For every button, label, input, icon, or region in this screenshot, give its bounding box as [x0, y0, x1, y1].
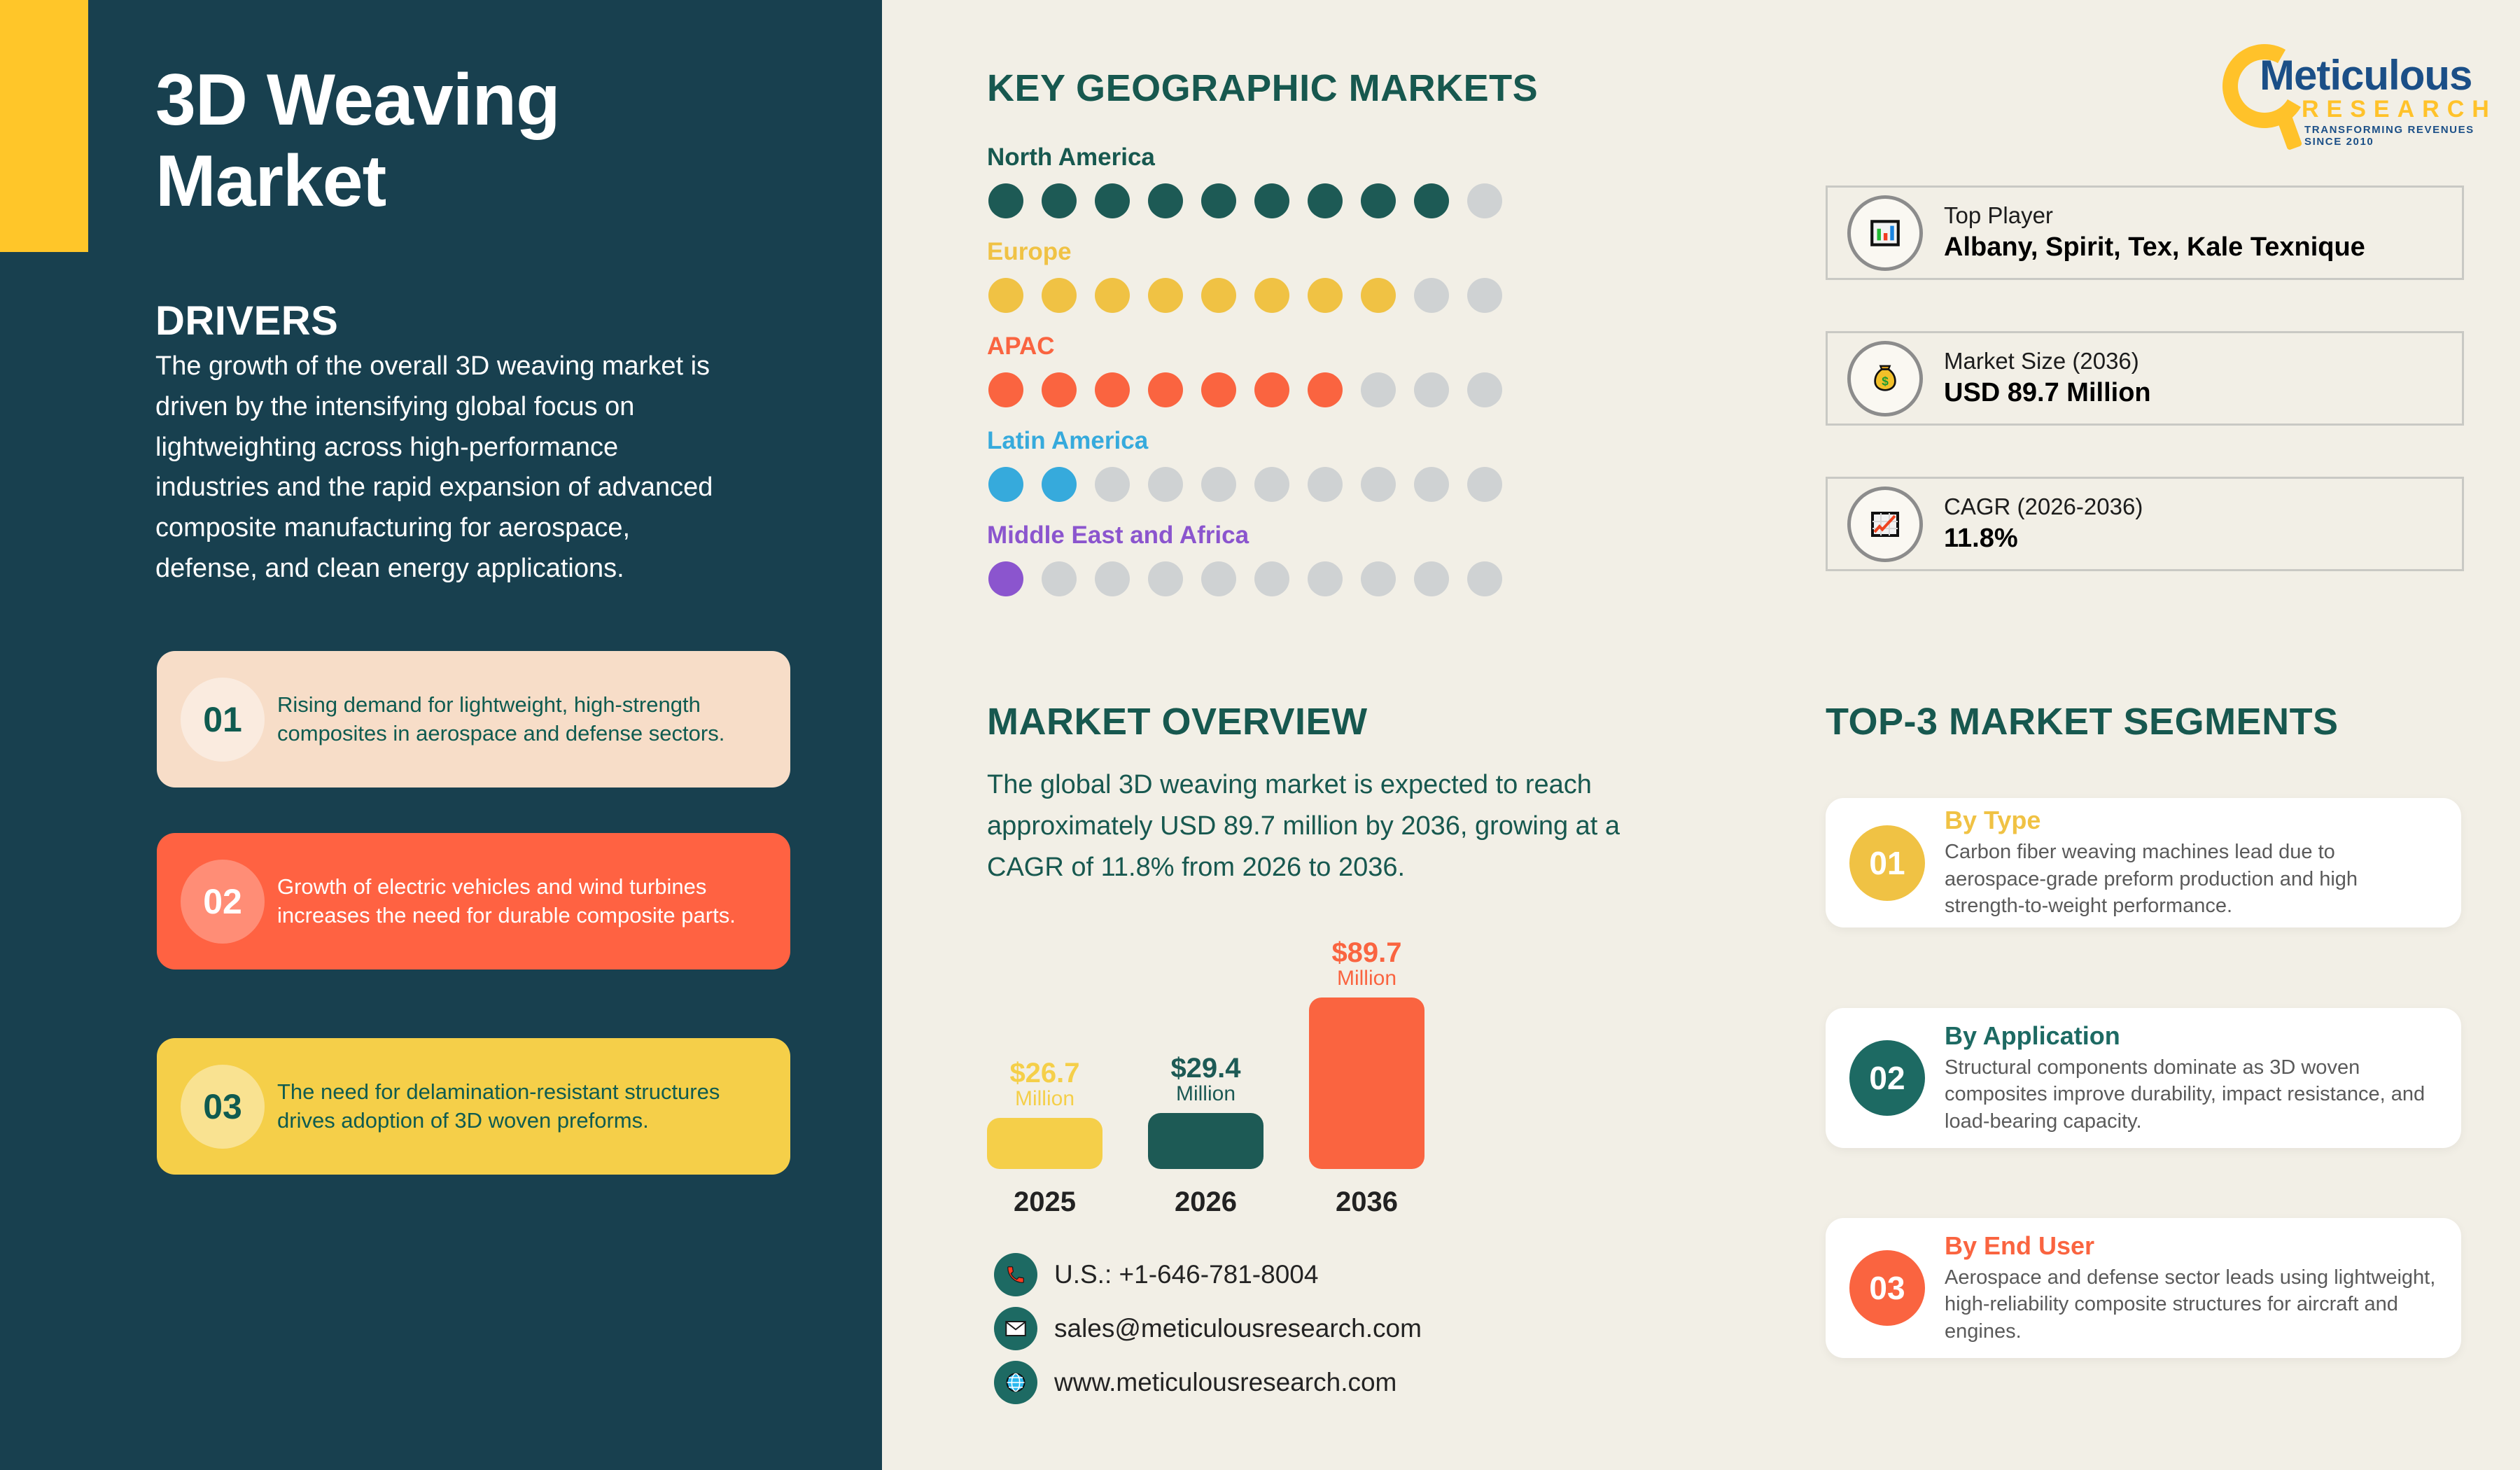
geo-dots-europe: [988, 278, 1502, 313]
geo-dot-filled: [1042, 183, 1077, 218]
segment-card-by-type[interactable]: 01 By Type Carbon fiber weaving machines…: [1826, 798, 2461, 927]
geo-dot-filled: [1042, 372, 1077, 407]
phone-icon: [994, 1253, 1037, 1296]
segment-number-badge: 01: [1849, 825, 1925, 901]
stat-card-cagr: CAGR (2026-2036) 11.8%: [1826, 477, 2464, 571]
geo-dot-filled: [1414, 183, 1449, 218]
driver-text: The need for delamination-resistant stru…: [277, 1078, 766, 1135]
driver-number-badge: 02: [181, 860, 265, 944]
contact-email-text: sales@meticulousresearch.com: [1054, 1314, 1422, 1343]
market-segments-heading: TOP-3 MARKET SEGMENTS: [1826, 700, 2339, 743]
geo-dot-filled: [1148, 278, 1183, 313]
geo-dot-filled: [1254, 183, 1289, 218]
bar-unit-label: Million: [1176, 1082, 1235, 1107]
geo-dot-empty: [1467, 561, 1502, 596]
stat-card-market-size: $ Market Size (2036) USD 89.7 Million: [1826, 331, 2464, 426]
geo-dot-filled: [1201, 183, 1236, 218]
geo-dot-empty: [1361, 467, 1396, 502]
segment-card-by-end-user[interactable]: 03 By End User Aerospace and defense sec…: [1826, 1218, 2461, 1358]
svg-text:$: $: [1882, 374, 1889, 388]
geo-dot-filled: [1361, 278, 1396, 313]
contact-phone-text: U.S.: +1-646-781-8004: [1054, 1260, 1318, 1289]
geo-dot-empty: [1148, 467, 1183, 502]
driver-card-03[interactable]: 03 The need for delamination-resistant s…: [157, 1038, 790, 1175]
money-bag-icon: $: [1847, 341, 1923, 416]
bar-unit-label: Million: [1337, 967, 1396, 991]
geo-dots-north-america: [988, 183, 1502, 218]
geo-label-middle-east-africa: Middle East and Africa: [987, 521, 1249, 549]
geo-dot-empty: [1361, 372, 1396, 407]
stat-card-top-player: Top Player Albany, Spirit, Tex, Kale Tex…: [1826, 185, 2464, 280]
bar-column-2025: $26.7 Million: [987, 1059, 1102, 1170]
geo-dot-filled: [1308, 278, 1343, 313]
geo-dot-empty: [1308, 467, 1343, 502]
magnifier-handle-icon: [2274, 107, 2303, 150]
segment-description: Structural components dominate as 3D wov…: [1945, 1054, 2437, 1135]
bar-column-2036: $89.7 Million: [1309, 939, 1424, 1170]
bar-year-label: 2036: [1309, 1186, 1424, 1218]
geo-dot-filled: [988, 372, 1023, 407]
segment-number-badge: 02: [1849, 1040, 1925, 1116]
geo-dot-filled: [1201, 372, 1236, 407]
geo-dot-filled: [1148, 372, 1183, 407]
stat-value: 11.8%: [1944, 521, 2143, 556]
geo-dots-latin-america: [988, 467, 1502, 502]
driver-text: Rising demand for lightweight, high-stre…: [277, 691, 766, 748]
geo-dot-filled: [1095, 372, 1130, 407]
segment-title: By Type: [1945, 806, 2437, 835]
stat-label: CAGR (2026-2036): [1944, 492, 2143, 521]
geo-dot-filled: [1095, 183, 1130, 218]
segment-description: Carbon fiber weaving machines lead due t…: [1945, 839, 2437, 920]
geo-dot-filled: [1254, 372, 1289, 407]
geo-dot-empty: [1254, 561, 1289, 596]
market-overview-body: The global 3D weaving market is expected…: [987, 764, 1638, 888]
bar-value-label: $89.7: [1331, 939, 1401, 967]
geo-label-north-america: North America: [987, 143, 1155, 171]
logo-word-research: RESEARCH: [2302, 96, 2497, 123]
geo-dot-empty: [1095, 561, 1130, 596]
geo-dot-empty: [1361, 561, 1396, 596]
geo-dot-empty: [1201, 467, 1236, 502]
geo-dot-filled: [988, 561, 1023, 596]
geo-dot-empty: [1414, 372, 1449, 407]
geo-dot-empty: [1042, 561, 1077, 596]
geo-dots-middle-east-africa: [988, 561, 1502, 596]
segment-description: Aerospace and defense sector leads using…: [1945, 1264, 2437, 1345]
geo-dot-filled: [1042, 467, 1077, 502]
driver-text: Growth of electric vehicles and wind tur…: [277, 873, 766, 930]
logo-word-meticulous: Meticulous: [2260, 51, 2472, 99]
geo-dot-filled: [1042, 278, 1077, 313]
logo-tagline: TRANSFORMING REVENUES SINCE 2010: [2304, 124, 2478, 148]
stat-label: Market Size (2036): [1944, 346, 2151, 376]
stat-value: USD 89.7 Million: [1944, 376, 2151, 410]
geo-dot-filled: [988, 183, 1023, 218]
segment-card-by-application[interactable]: 02 By Application Structural components …: [1826, 1008, 2461, 1148]
contact-website[interactable]: www.meticulousresearch.com: [994, 1361, 1396, 1404]
geo-dot-empty: [1414, 278, 1449, 313]
bar-value-label: $26.7: [1009, 1059, 1079, 1087]
geo-dot-empty: [1254, 467, 1289, 502]
contact-website-text: www.meticulousresearch.com: [1054, 1368, 1396, 1397]
geo-dot-filled: [1095, 278, 1130, 313]
driver-card-02[interactable]: 02 Growth of electric vehicles and wind …: [157, 833, 790, 969]
drivers-heading: DRIVERS: [155, 297, 338, 344]
drivers-body: The growth of the overall 3D weaving mar…: [155, 346, 736, 589]
geo-dot-empty: [1414, 561, 1449, 596]
bar-year-label: 2025: [987, 1186, 1102, 1218]
page-title: 3D Weaving Market: [155, 59, 785, 223]
stat-label: Top Player: [1944, 201, 2365, 230]
bar-unit-label: Million: [1015, 1087, 1074, 1112]
contact-email[interactable]: sales@meticulousresearch.com: [994, 1307, 1422, 1350]
geo-dot-empty: [1148, 561, 1183, 596]
geographic-markets-heading: KEY GEOGRAPHIC MARKETS: [987, 66, 1538, 110]
geo-dot-empty: [1414, 467, 1449, 502]
geo-dot-filled: [1254, 278, 1289, 313]
geo-dot-empty: [1467, 183, 1502, 218]
geo-dot-empty: [1467, 467, 1502, 502]
segment-title: By End User: [1945, 1231, 2437, 1261]
geo-dot-filled: [988, 278, 1023, 313]
bar-rect: [1148, 1113, 1263, 1169]
geo-dot-filled: [1361, 183, 1396, 218]
stat-value: Albany, Spirit, Tex, Kale Texnique: [1944, 230, 2365, 265]
bar-chart-icon: [1847, 195, 1923, 271]
bar-rect: [1309, 997, 1424, 1169]
bar-column-2026: $29.4 Million: [1148, 1054, 1263, 1170]
geo-label-europe: Europe: [987, 238, 1072, 266]
driver-number-badge: 01: [181, 678, 265, 762]
meticulous-research-logo: Meticulous RESEARCH TRANSFORMING REVENUE…: [2219, 38, 2478, 143]
accent-bar: [0, 0, 88, 252]
email-icon: [994, 1307, 1037, 1350]
geo-dot-filled: [1148, 183, 1183, 218]
driver-card-01[interactable]: 01 Rising demand for lightweight, high-s…: [157, 651, 790, 787]
geo-dot-empty: [1308, 561, 1343, 596]
geo-dot-empty: [1467, 372, 1502, 407]
trend-chart-icon: [1847, 486, 1923, 562]
geo-dots-apac: [988, 372, 1502, 407]
geo-dot-filled: [1201, 278, 1236, 313]
bar-value-label: $29.4: [1170, 1054, 1240, 1082]
bar-year-label: 2026: [1148, 1186, 1263, 1218]
geo-dot-empty: [1095, 467, 1130, 502]
contact-phone[interactable]: U.S.: +1-646-781-8004: [994, 1253, 1318, 1296]
geo-label-apac: APAC: [987, 332, 1055, 360]
geo-dot-empty: [1201, 561, 1236, 596]
geo-dot-empty: [1467, 278, 1502, 313]
driver-number-badge: 03: [181, 1065, 265, 1149]
market-overview-bar-chart: $26.7 Million 2025 $29.4 Million 2026 $8…: [987, 903, 1561, 1218]
segment-number-badge: 03: [1849, 1250, 1925, 1326]
geo-dot-filled: [1308, 183, 1343, 218]
market-overview-heading: MARKET OVERVIEW: [987, 700, 1368, 743]
segment-title: By Application: [1945, 1021, 2437, 1051]
geo-dot-filled: [1308, 372, 1343, 407]
left-panel: 3D Weaving Market DRIVERS The growth of …: [0, 0, 882, 1470]
bar-rect: [987, 1118, 1102, 1169]
geo-dot-filled: [988, 467, 1023, 502]
globe-icon: [994, 1361, 1037, 1404]
geo-label-latin-america: Latin America: [987, 427, 1148, 455]
